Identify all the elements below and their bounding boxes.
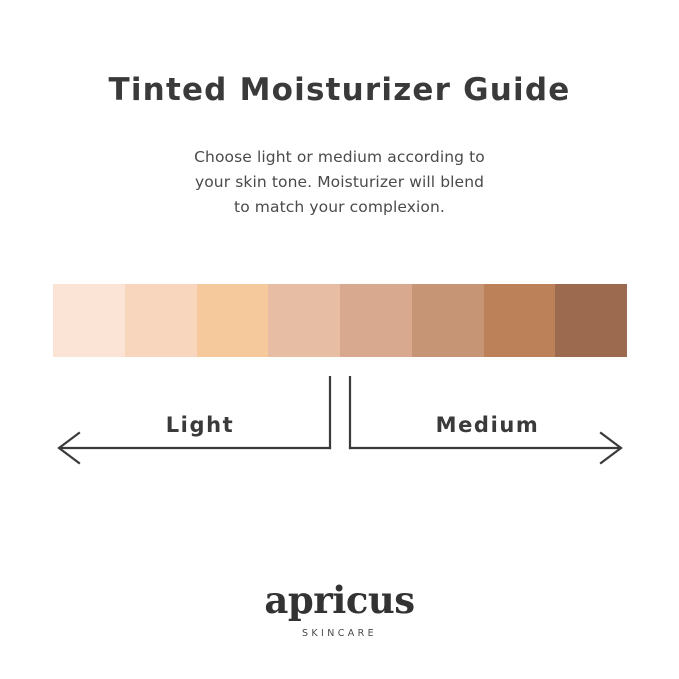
- brand-wordmark: apricus: [0, 578, 679, 622]
- swatch-shade-8: [555, 284, 627, 357]
- subtitle-line-2: your skin tone. Moisturizer will blend: [0, 170, 679, 195]
- label-light: Light: [110, 413, 290, 437]
- swatch-shade-1: [53, 284, 125, 357]
- brand-tagline: SKINCARE: [0, 628, 679, 639]
- swatch-shade-3: [197, 284, 269, 357]
- page-subtitle: Choose light or medium according to your…: [0, 145, 679, 220]
- swatch-shade-5: [340, 284, 412, 357]
- label-medium: Medium: [385, 413, 590, 437]
- subtitle-line-3: to match your complexion.: [0, 195, 679, 220]
- shade-swatch-row: [53, 284, 627, 357]
- swatch-shade-4: [268, 284, 340, 357]
- swatch-shade-2: [125, 284, 197, 357]
- page-title: Tinted Moisturizer Guide: [0, 72, 679, 108]
- subtitle-line-1: Choose light or medium according to: [0, 145, 679, 170]
- swatch-shade-6: [412, 284, 484, 357]
- swatch-shade-7: [484, 284, 556, 357]
- tinted-moisturizer-guide: Tinted Moisturizer Guide Choose light or…: [0, 0, 679, 679]
